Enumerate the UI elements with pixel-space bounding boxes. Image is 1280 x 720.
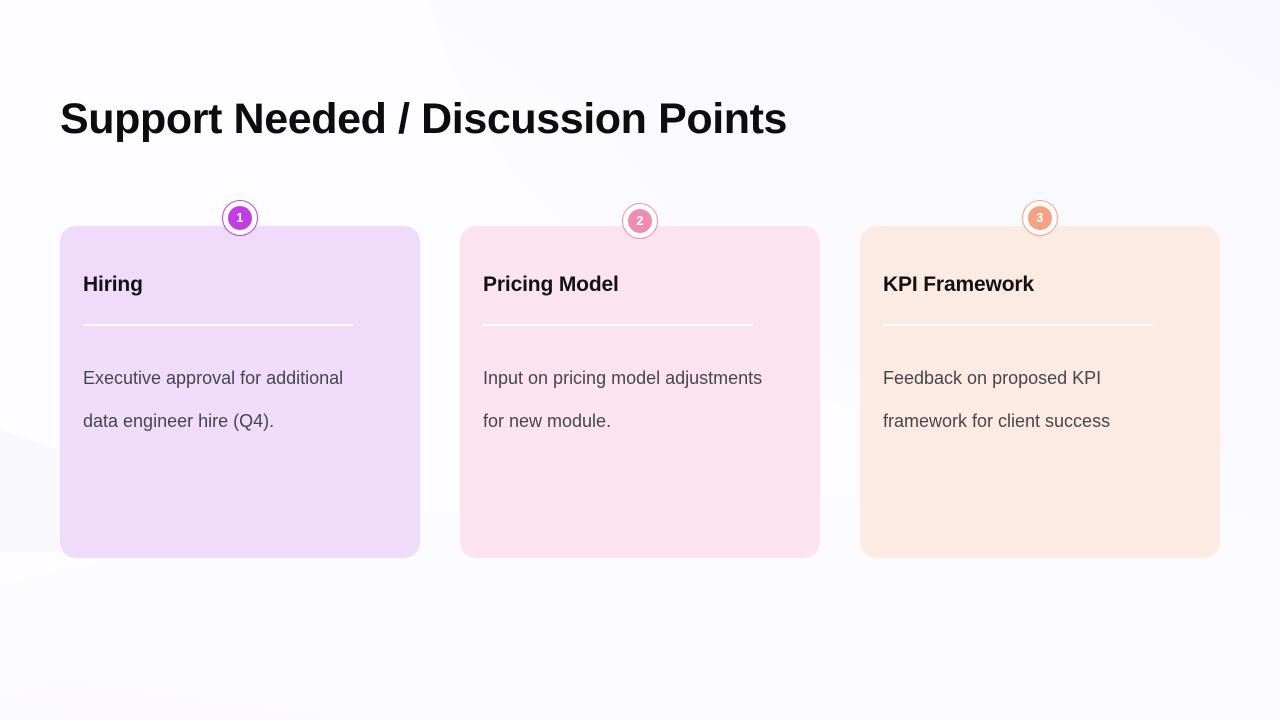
card-hiring[interactable]: 1 Hiring Executive approval for addition… (60, 226, 420, 558)
card-divider (83, 324, 353, 326)
card-title: KPI Framework (883, 272, 1196, 297)
card-divider (483, 324, 753, 326)
badge-dot-icon: 3 (1028, 206, 1052, 230)
badge-number: 2 (636, 215, 643, 228)
badge-dot-icon: 1 (228, 206, 252, 230)
card-body-text: Executive approval for additional data e… (83, 357, 365, 443)
card-body-text: Feedback on proposed KPI framework for c… (883, 357, 1165, 443)
card-title: Pricing Model (483, 272, 796, 297)
card-number-badge: 2 (622, 203, 658, 239)
card-number-badge: 3 (1022, 200, 1058, 236)
badge-dot-icon: 2 (628, 209, 652, 233)
cards-row: 1 Hiring Executive approval for addition… (60, 226, 1220, 558)
card-kpi-framework[interactable]: 3 KPI Framework Feedback on proposed KPI… (860, 226, 1220, 558)
card-divider (883, 324, 1153, 326)
badge-number: 3 (1036, 212, 1043, 225)
card-title: Hiring (83, 272, 396, 297)
card-body-text: Input on pricing model adjustments for n… (483, 357, 765, 443)
slide-canvas: Support Needed / Discussion Points 1 Hir… (0, 0, 1280, 720)
card-pricing-model[interactable]: 2 Pricing Model Input on pricing model a… (460, 226, 820, 558)
page-title: Support Needed / Discussion Points (60, 95, 787, 143)
card-number-badge: 1 (222, 200, 258, 236)
badge-number: 1 (236, 212, 243, 225)
